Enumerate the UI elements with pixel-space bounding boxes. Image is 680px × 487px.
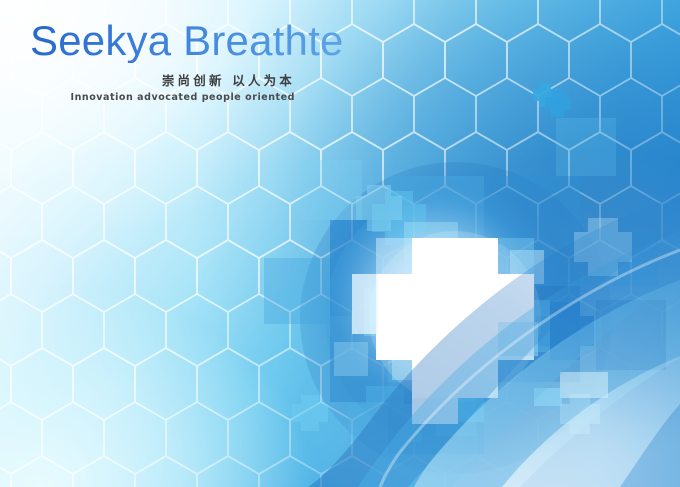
page-title: Seekya Breathtes [0,18,345,63]
slogan-chinese: 崇尚创新 以人为本 [0,70,345,89]
slogan-english: Innovation advocated people oriented [0,92,345,103]
branding-text-block: Seekya Breathtes 崇尚创新 以人为本 Innovation ad… [0,18,345,103]
poster-canvas: Seekya Breathtes 崇尚创新 以人为本 Innovation ad… [0,0,680,487]
